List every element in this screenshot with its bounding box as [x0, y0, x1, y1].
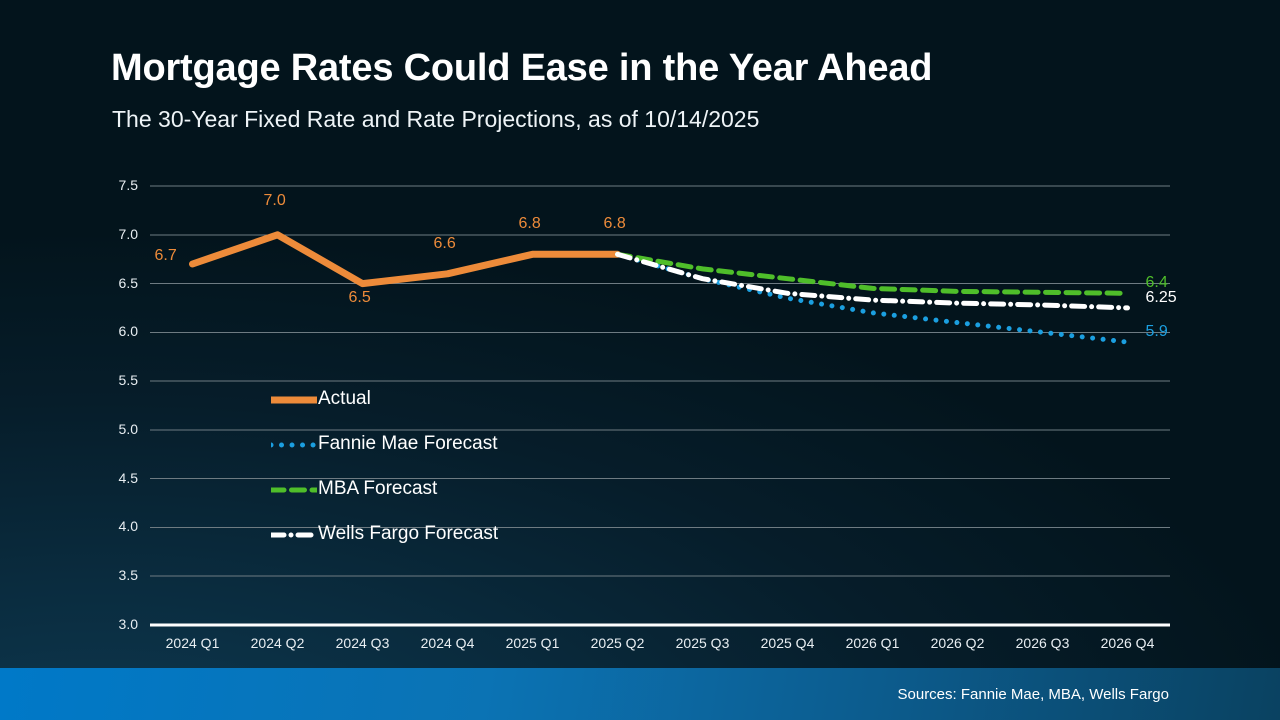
y-axis-tick-label: 7.5: [92, 177, 138, 193]
legend-swatch-mba-forecast: [271, 482, 317, 498]
data-point-label: 6.6: [434, 235, 456, 253]
y-axis-tick-label: 4.5: [92, 470, 138, 486]
y-axis-tick-label: 6.0: [92, 323, 138, 339]
y-axis-tick-label: 3.0: [92, 616, 138, 632]
legend-label-wells-fargo-forecast: Wells Fargo Forecast: [318, 523, 498, 545]
legend-label-actual: Actual: [318, 388, 371, 410]
series-line-fannie-mae-forecast: [618, 254, 1128, 342]
legend-label-fannie-mae-forecast: Fannie Mae Forecast: [318, 433, 498, 455]
x-axis-tick-label: 2026 Q4: [1073, 635, 1183, 651]
legend-label-mba-forecast: MBA Forecast: [318, 478, 437, 500]
sources-note: Sources: Fannie Mae, MBA, Wells Fargo: [898, 686, 1170, 703]
data-point-label: 6.7: [155, 247, 177, 265]
y-axis-tick-label: 6.5: [92, 275, 138, 291]
legend-swatch-actual: [271, 392, 317, 408]
series-line-actual: [193, 235, 618, 284]
slide-canvas: Mortgage Rates Could Ease in the Year Ah…: [0, 0, 1280, 720]
series-line-mba-forecast: [618, 254, 1128, 293]
y-axis-tick-label: 7.0: [92, 226, 138, 242]
data-point-label: 7.0: [264, 192, 286, 210]
data-point-label: 6.8: [604, 215, 626, 233]
series-line-wells-fargo-forecast: [618, 254, 1128, 308]
y-axis-tick-label: 5.0: [92, 421, 138, 437]
line-chart: [0, 0, 1280, 670]
data-point-label: 6.8: [519, 215, 541, 233]
y-axis-tick-label: 4.0: [92, 518, 138, 534]
y-axis-tick-label: 5.5: [92, 372, 138, 388]
data-point-label: 6.5: [349, 289, 371, 307]
legend-swatch-wells-fargo-forecast: [271, 527, 317, 543]
legend-swatch-fannie-mae-forecast: [271, 437, 317, 453]
y-axis-tick-label: 3.5: [92, 567, 138, 583]
data-point-label: 5.9: [1146, 323, 1168, 341]
data-point-label: 6.25: [1146, 289, 1177, 307]
